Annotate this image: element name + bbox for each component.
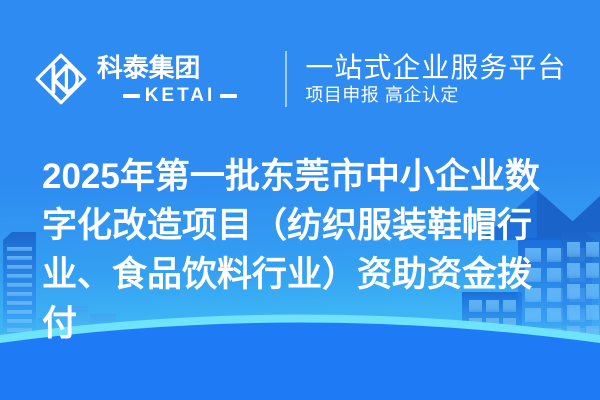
company-name-en: KETAI bbox=[145, 86, 216, 105]
company-wordmark: 科泰集团 KETAI bbox=[97, 53, 264, 105]
svg-text:科泰集团: 科泰集团 bbox=[97, 53, 200, 83]
ketai-kd-monogram-icon bbox=[34, 52, 88, 106]
building-far-right-tower bbox=[561, 196, 600, 356]
tagline-main: 一站式企业服务平台 bbox=[305, 52, 566, 83]
tagline-sub: 项目申报 高企认定 bbox=[305, 85, 566, 106]
promo-banner: 科泰集团 KETAI 一站式企业服务平台 项目申报 高企认定 2025年第一批东… bbox=[0, 0, 600, 400]
company-name-cn: 科泰集团 bbox=[97, 53, 264, 83]
vertical-divider-icon bbox=[285, 51, 287, 107]
building-left-tower bbox=[3, 232, 36, 352]
dash-icon bbox=[123, 94, 140, 98]
company-logo: 科泰集团 KETAI bbox=[34, 52, 264, 106]
page-title: 2025年第一批东莞市中小企业数字化改造项目（纺织服装鞋帽行业、食品饮料行业）资… bbox=[42, 152, 558, 348]
banner-header: 科泰集团 KETAI 一站式企业服务平台 项目申报 高企认定 bbox=[0, 36, 600, 122]
dash-icon bbox=[220, 94, 237, 98]
tagline-block: 一站式企业服务平台 项目申报 高企认定 bbox=[305, 52, 566, 106]
company-wordmark-en: KETAI bbox=[123, 86, 238, 105]
